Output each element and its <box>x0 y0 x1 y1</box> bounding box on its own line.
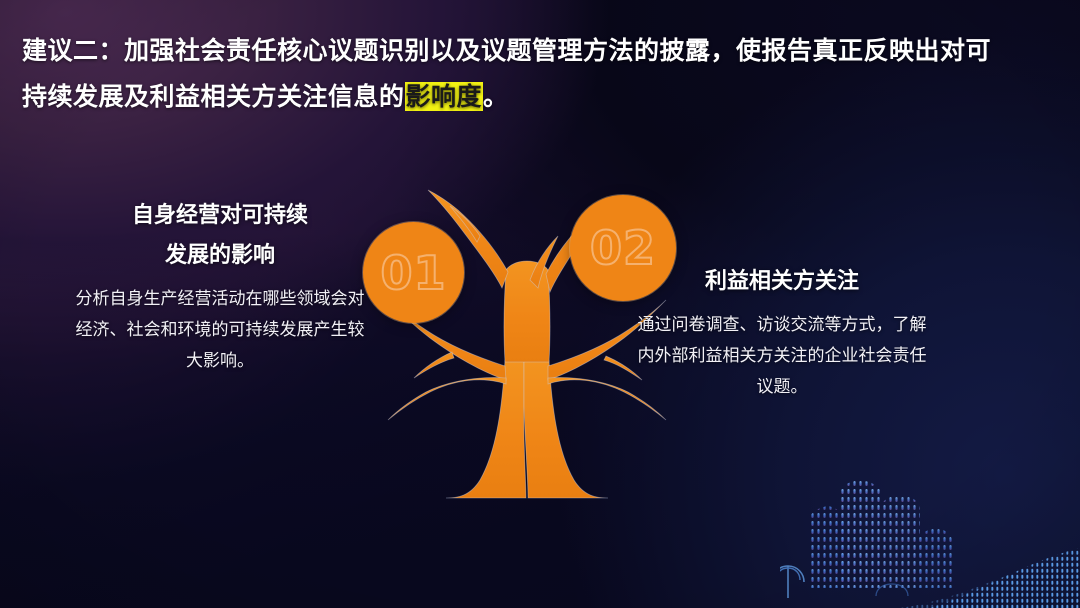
city-skyline-icon <box>780 448 1080 608</box>
node-number-01: 01 <box>380 246 446 300</box>
node-heading-02: 利益相关方关注 <box>632 262 932 302</box>
title-line-1-text: 建议二：加强社会责任核心议题识别以及议题管理方法的披露，使报告真正反映出对可 <box>22 36 991 65</box>
title-line-2-period: 。 <box>483 82 509 111</box>
title-highlight: 影响度 <box>405 82 484 111</box>
building-mid-right <box>880 494 920 588</box>
node-text-block-01: 自身经营对可持续 发展的影响 分析自身生产经营活动在哪些领域会对经济、社会和环境… <box>70 196 370 377</box>
node-heading-01-line1: 自身经营对可持续 <box>70 196 370 236</box>
node-circle-01[interactable]: 01 <box>363 222 464 323</box>
node-heading-01: 自身经营对可持续 发展的影响 <box>70 196 370 276</box>
node-text-block-02: 利益相关方关注 通过问卷调查、访谈交流等方式，了解内外部利益相关方关注的企业社会… <box>632 262 932 403</box>
building-mid-left <box>808 506 844 588</box>
node-heading-01-line2: 发展的影响 <box>70 236 370 276</box>
antenna-tower-left <box>780 566 804 598</box>
slide-canvas: 建议二：加强社会责任核心议题识别以及议题管理方法的披露，使报告真正反映出对可 持… <box>0 0 1080 608</box>
node-body-01: 分析自身生产经营活动在哪些领域会对经济、社会和环境的可持续发展产生较大影响。 <box>70 284 370 377</box>
building-short-right <box>918 528 952 588</box>
title-line-2: 持续发展及利益相关方关注信息的影响度。 <box>22 74 1062 120</box>
node-heading-02-line1: 利益相关方关注 <box>632 262 932 302</box>
node-body-02: 通过问卷调查、访谈交流等方式，了解内外部利益相关方关注的企业社会责任议题。 <box>632 310 932 403</box>
building-tall <box>838 480 882 588</box>
title-line-2-text: 持续发展及利益相关方关注信息的 <box>22 82 405 111</box>
title-line-1: 建议二：加强社会责任核心议题识别以及议题管理方法的披露，使报告真正反映出对可 <box>22 28 1062 74</box>
slide-title: 建议二：加强社会责任核心议题识别以及议题管理方法的披露，使报告真正反映出对可 持… <box>22 28 1062 120</box>
